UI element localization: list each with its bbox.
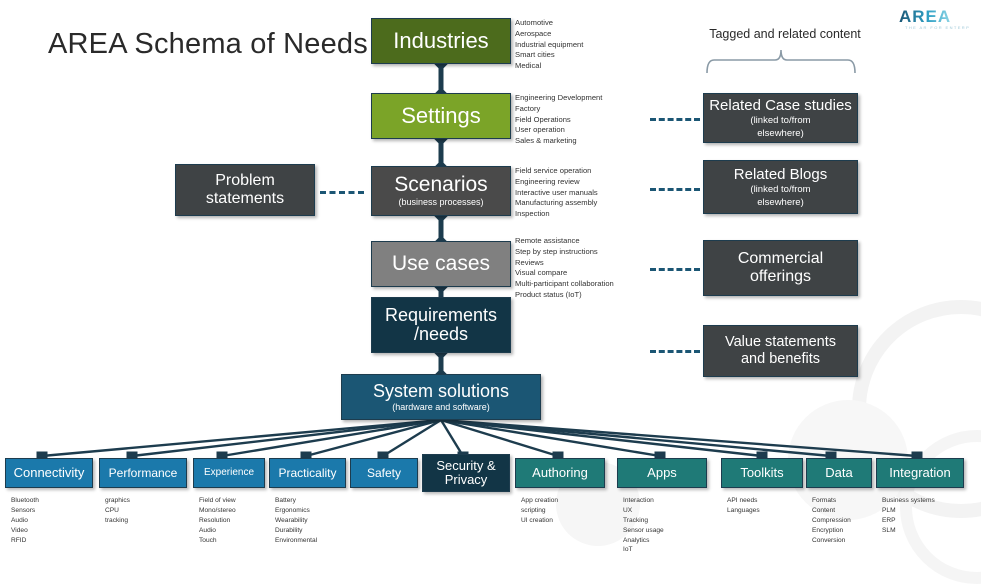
box-commercial-offerings-line1: Commercial <box>738 250 823 268</box>
node-requirements-title-line1: Requirements <box>385 306 497 325</box>
category-items-connectivity: BluetoothSensorsAudioVideoRFID <box>11 496 39 545</box>
list-item: Inspection <box>515 209 598 220</box>
category-box-practicality[interactable]: Practicality <box>269 458 346 488</box>
category-label: Apps <box>647 466 677 480</box>
list-item: Languages <box>727 506 760 516</box>
box-problem-statements-line2: statements <box>206 190 284 208</box>
node-industries-title: Industries <box>393 29 488 52</box>
box-related-blogs-sub1: (linked to/from <box>750 184 810 195</box>
page-title: AREA Schema of Needs <box>48 28 378 61</box>
node-requirements-title-line2: /needs <box>414 325 468 344</box>
list-item: Conversion <box>812 536 851 546</box>
list-industries: AutomotiveAerospaceIndustrial equipmentS… <box>515 18 583 72</box>
list-item: Multi-participant collaboration <box>515 279 614 290</box>
category-box-toolkits[interactable]: Toolkits <box>721 458 803 488</box>
node-scenarios-title: Scenarios <box>394 174 487 196</box>
list-item: scripting <box>521 506 558 516</box>
box-related-case-studies-sub2: elsewhere) <box>757 128 803 139</box>
list-item: tracking <box>105 516 130 526</box>
list-item: App creation <box>521 496 558 506</box>
category-label: Data <box>825 466 852 480</box>
list-item: Automotive <box>515 18 583 29</box>
list-item: Field service operation <box>515 166 598 177</box>
area-logo-text: AREA <box>899 7 951 26</box>
list-item: CPU <box>105 506 130 516</box>
box-related-case-studies[interactable]: Related Case studies (linked to/from els… <box>703 93 858 143</box>
category-label: Integration <box>889 466 950 480</box>
list-item: Durability <box>275 526 317 536</box>
list-item: Compression <box>812 516 851 526</box>
list-item: Interactive user manuals <box>515 188 598 199</box>
category-label: Authoring <box>532 466 588 480</box>
dashed-connector-problem <box>320 191 364 194</box>
list-item: Video <box>11 526 39 536</box>
list-item: API needs <box>727 496 760 506</box>
box-value-statements-line1: Value statements <box>725 334 836 351</box>
category-label: Security & Privacy <box>426 459 506 487</box>
box-value-statements-line2: and benefits <box>741 351 820 368</box>
dashed-connector-value <box>650 350 700 353</box>
list-item: Aerospace <box>515 29 583 40</box>
list-item: Smart cities <box>515 50 583 61</box>
category-label: Toolkits <box>740 466 783 480</box>
list-item: ERP <box>882 516 935 526</box>
list-scenarios: Field service operationEngineering revie… <box>515 166 598 220</box>
list-item: Sales & marketing <box>515 136 602 147</box>
list-item: SLM <box>882 526 935 536</box>
category-label: Performance <box>109 467 178 480</box>
list-item: Encryption <box>812 526 851 536</box>
category-label: Practicality <box>278 467 336 480</box>
list-item: UI creation <box>521 516 558 526</box>
list-item: Field of view <box>199 496 236 506</box>
category-label: Connectivity <box>14 466 85 480</box>
category-items-experience: Field of viewMono/stereoResolutionAudioT… <box>199 496 236 545</box>
list-item: Wearability <box>275 516 317 526</box>
node-system-solutions[interactable]: System solutions (hardware and software) <box>341 374 541 420</box>
list-item: Battery <box>275 496 317 506</box>
list-item: Mono/stereo <box>199 506 236 516</box>
node-system-solutions-subtitle: (hardware and software) <box>392 403 490 413</box>
node-use-cases-title: Use cases <box>392 253 490 275</box>
category-label: Experience <box>204 468 254 479</box>
tagged-content-label: Tagged and related content <box>690 27 880 41</box>
box-related-blogs-title: Related Blogs <box>734 166 827 183</box>
list-item: Remote assistance <box>515 236 614 247</box>
category-box-security-privacy[interactable]: Security & Privacy <box>422 454 510 492</box>
node-industries[interactable]: Industries <box>371 18 511 64</box>
box-value-statements[interactable]: Value statements and benefits <box>703 325 858 377</box>
list-item: PLM <box>882 506 935 516</box>
list-item: Reviews <box>515 258 614 269</box>
dashed-connector-case-studies <box>650 118 700 121</box>
list-item: Content <box>812 506 851 516</box>
list-item: Step by step instructions <box>515 247 614 258</box>
category-items-performance: graphicsCPUtracking <box>105 496 130 526</box>
list-item: Audio <box>11 516 39 526</box>
list-item: User operation <box>515 125 602 136</box>
category-box-connectivity[interactable]: Connectivity <box>5 458 93 488</box>
node-scenarios-subtitle: (business processes) <box>398 198 483 208</box>
category-box-integration[interactable]: Integration <box>876 458 964 488</box>
list-item: Analytics <box>623 536 664 546</box>
node-use-cases[interactable]: Use cases <box>371 241 511 287</box>
category-box-authoring[interactable]: Authoring <box>515 458 605 488</box>
list-settings: Engineering DevelopmentFactoryField Oper… <box>515 93 602 147</box>
list-item: Environmental <box>275 536 317 546</box>
node-settings[interactable]: Settings <box>371 93 511 139</box>
category-items-integration: Business systemsPLMERPSLM <box>882 496 935 536</box>
list-item: Product status (IoT) <box>515 290 614 301</box>
list-item: Resolution <box>199 516 236 526</box>
box-related-case-studies-sub1: (linked to/from <box>750 115 810 126</box>
list-item: Audio <box>199 526 236 536</box>
list-item: Field Operations <box>515 115 602 126</box>
node-system-solutions-title: System solutions <box>373 382 509 401</box>
list-item: Manufacturing assembly <box>515 198 598 209</box>
list-item: Engineering Development <box>515 93 602 104</box>
box-related-blogs[interactable]: Related Blogs (linked to/from elsewhere) <box>703 160 858 214</box>
list-item: Interaction <box>623 496 664 506</box>
list-item: Factory <box>515 104 602 115</box>
list-item: Industrial equipment <box>515 40 583 51</box>
svg-text:THE AR FOR ENTERPRISE ALLIANCE: THE AR FOR ENTERPRISE ALLIANCE <box>905 25 969 30</box>
list-item: graphics <box>105 496 130 506</box>
list-use-cases: Remote assistanceStep by step instructio… <box>515 236 614 301</box>
box-commercial-offerings-line2: offerings <box>750 268 811 286</box>
list-item: Sensors <box>11 506 39 516</box>
box-problem-statements-line1: Problem <box>215 172 275 190</box>
dashed-connector-commercial <box>650 268 700 271</box>
node-settings-title: Settings <box>401 104 481 127</box>
list-item: Sensor usage <box>623 526 664 536</box>
node-requirements[interactable]: Requirements /needs <box>371 297 511 353</box>
category-box-performance[interactable]: Performance <box>99 458 187 488</box>
node-scenarios[interactable]: Scenarios (business processes) <box>371 166 511 216</box>
list-item: Visual compare <box>515 268 614 279</box>
category-items-authoring: App creationscriptingUI creation <box>521 496 558 526</box>
list-item: Tracking <box>623 516 664 526</box>
list-item: Formats <box>812 496 851 506</box>
category-label: Safety <box>367 467 401 480</box>
category-box-data[interactable]: Data <box>806 458 872 488</box>
list-item: RFID <box>11 536 39 546</box>
list-item: Touch <box>199 536 236 546</box>
box-related-blogs-sub2: elsewhere) <box>757 197 803 208</box>
list-item: Engineering review <box>515 177 598 188</box>
list-item: UX <box>623 506 664 516</box>
list-item: Bluetooth <box>11 496 39 506</box>
category-items-apps: InteractionUXTrackingSensor usageAnalyti… <box>623 496 664 555</box>
box-problem-statements[interactable]: Problem statements <box>175 164 315 216</box>
category-box-experience[interactable]: Experience <box>193 458 265 488</box>
list-item: Ergonomics <box>275 506 317 516</box>
area-logo: AREA THE AR FOR ENTERPRISE ALLIANCE <box>899 6 969 32</box>
category-box-safety[interactable]: Safety <box>350 458 418 488</box>
list-item: IoT <box>623 545 664 555</box>
category-items-data: FormatsContentCompressionEncryptionConve… <box>812 496 851 545</box>
category-items-practicality: BatteryErgonomicsWearabilityDurabilityEn… <box>275 496 317 545</box>
diagram-canvas: AREA Schema of Needs AREA THE AR FOR ENT… <box>0 0 981 552</box>
category-box-apps[interactable]: Apps <box>617 458 707 488</box>
list-item: Business systems <box>882 496 935 506</box>
list-item: Medical <box>515 61 583 72</box>
box-commercial-offerings[interactable]: Commercial offerings <box>703 240 858 296</box>
box-related-case-studies-title: Related Case studies <box>709 97 852 114</box>
category-items-toolkits: API needsLanguages <box>727 496 760 516</box>
dashed-connector-blogs <box>650 188 700 191</box>
